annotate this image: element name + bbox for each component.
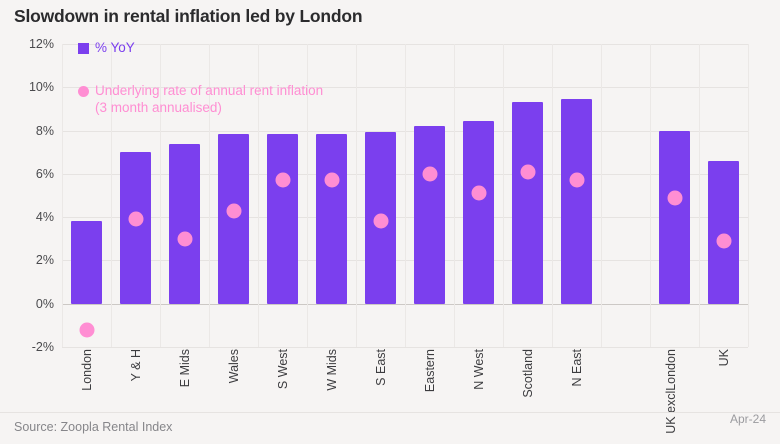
bar-eastern[interactable] <box>414 126 444 303</box>
x-axis-labels: LondonY & HE MidsWalesS WestW MidsS East… <box>62 349 748 415</box>
x-axis-tick-label: Wales <box>227 349 241 383</box>
dot-n-east[interactable] <box>569 173 584 188</box>
x-axis-label-e-mids: E Mids <box>179 349 193 387</box>
bar-s-west[interactable] <box>267 134 297 304</box>
x-axis-label-n-east: N East <box>571 349 585 387</box>
dot-e-mids[interactable] <box>177 231 192 246</box>
source-text: Source: Zoopla Rental Index <box>14 420 172 434</box>
y-axis-tick-label: 0% <box>8 297 54 311</box>
legend-item-yoy: % YoY <box>78 40 538 57</box>
bar-y-h[interactable] <box>120 152 150 304</box>
bar-w-mids[interactable] <box>316 134 346 304</box>
y-axis-tick-label: 8% <box>8 124 54 138</box>
x-axis-tick-label: Y & H <box>129 349 143 381</box>
dot-w-mids[interactable] <box>324 173 339 188</box>
bar-e-mids[interactable] <box>169 144 199 304</box>
x-axis-tick-label: S West <box>276 349 290 389</box>
circle-swatch-icon <box>78 86 89 97</box>
y-axis-tick-label: 4% <box>8 210 54 224</box>
gridline-vertical <box>699 44 700 347</box>
x-axis-tick-label: S East <box>374 349 388 386</box>
x-axis-label-uk-excl-london: UK exclLondon <box>665 349 679 434</box>
dot-uk-excl-london[interactable] <box>667 190 682 205</box>
x-axis-tick-label: London <box>664 349 678 391</box>
y-axis-tick-label: 12% <box>8 37 54 51</box>
y-axis-ticks: -2%0%2%4%6%8%10%12% <box>0 44 54 347</box>
x-axis-label-eastern: Eastern <box>424 349 438 392</box>
x-axis-tick-label: E Mids <box>178 349 192 387</box>
x-axis-label-wales: Wales <box>228 349 242 383</box>
x-axis-label-london: London <box>81 349 95 391</box>
gridline-vertical <box>601 44 602 347</box>
x-axis-label-s-east: S East <box>375 349 389 386</box>
x-axis-label-s-west: S West <box>277 349 291 389</box>
x-axis-tick-label: N West <box>472 349 486 390</box>
dot-uk[interactable] <box>716 233 731 248</box>
chart-legend: % YoY Underlying rate of annual rent inf… <box>78 40 538 117</box>
y-axis-tick-label: 2% <box>8 253 54 267</box>
x-axis-tick-label: Scotland <box>521 349 535 398</box>
x-axis-label-scotland: Scotland <box>522 349 536 398</box>
x-axis-label-y-h: Y & H <box>130 349 144 381</box>
square-swatch-icon <box>78 43 89 54</box>
gridline-vertical <box>748 44 749 347</box>
y-axis-tick-label: 10% <box>8 80 54 94</box>
dot-s-east[interactable] <box>373 214 388 229</box>
dot-wales[interactable] <box>226 203 241 218</box>
gridline-horizontal <box>62 347 748 348</box>
x-axis-tick-label: Eastern <box>423 349 437 392</box>
dot-y-h[interactable] <box>128 212 143 227</box>
legend-item-underlying: Underlying rate of annual rent inflation… <box>78 82 538 117</box>
x-axis-label-uk: UK <box>718 349 732 366</box>
bar-n-west[interactable] <box>463 121 493 304</box>
dot-scotland[interactable] <box>520 164 535 179</box>
bar-n-east[interactable] <box>561 99 591 304</box>
chart-root: Slowdown in rental inflation led by Lond… <box>0 0 780 444</box>
bar-uk-excl-london[interactable] <box>659 131 689 304</box>
bar-uk[interactable] <box>708 161 738 304</box>
gridline-vertical <box>552 44 553 347</box>
x-axis-label-n-west: N West <box>473 349 487 390</box>
legend-label-yoy: % YoY <box>95 40 135 57</box>
y-axis-tick-label: 6% <box>8 167 54 181</box>
x-axis-tick-label: N East <box>570 349 584 387</box>
gridline-vertical <box>650 44 651 347</box>
x-axis-tick-label: UK <box>717 349 731 366</box>
bar-london[interactable] <box>71 221 101 303</box>
x-axis-label-w-mids: W Mids <box>326 349 340 391</box>
x-axis-tick-label: W Mids <box>325 349 339 391</box>
x-axis-tick-label: London <box>80 349 94 391</box>
dot-london[interactable] <box>79 322 94 337</box>
legend-label-underlying: Underlying rate of annual rent inflation… <box>95 82 323 117</box>
chart-title: Slowdown in rental inflation led by Lond… <box>14 6 362 27</box>
bar-wales[interactable] <box>218 134 248 304</box>
y-axis-tick-label: -2% <box>8 340 54 354</box>
gridline-vertical <box>62 44 63 347</box>
dot-eastern[interactable] <box>422 166 437 181</box>
footer-divider <box>0 412 780 413</box>
dot-s-west[interactable] <box>275 173 290 188</box>
period-label: Apr-24 <box>730 412 766 426</box>
bar-scotland[interactable] <box>512 102 542 303</box>
dot-n-west[interactable] <box>471 186 486 201</box>
